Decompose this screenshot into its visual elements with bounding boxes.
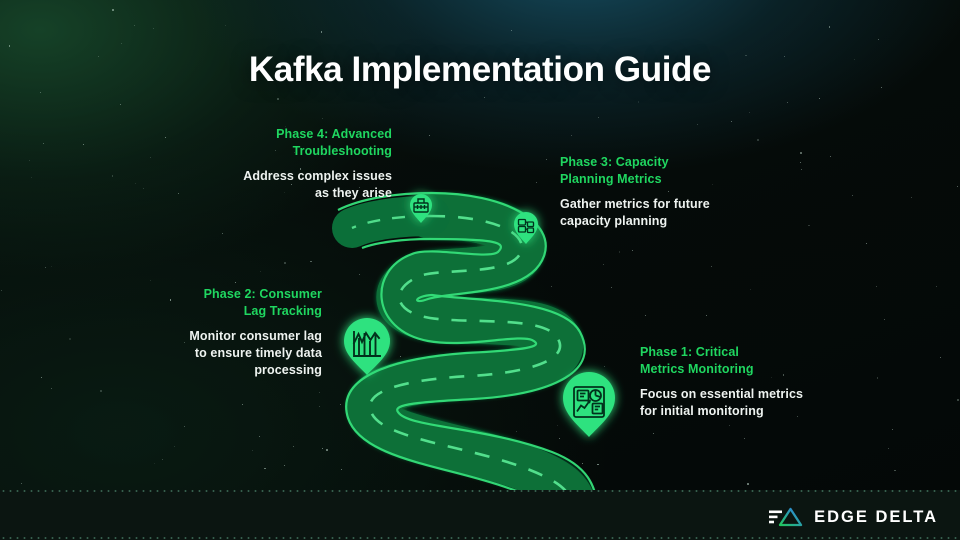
pin-shape-1	[563, 372, 615, 437]
phase-1-description: Focus on essential metrics for initial m…	[640, 386, 810, 420]
phase-3-description: Gather metrics for future capacity plann…	[560, 196, 740, 230]
phase-2-title-line2: Lag Tracking	[244, 304, 322, 318]
brand-logo: EDGE DELTA	[769, 506, 938, 528]
phase-3-title: Phase 3: Capacity Planning Metrics	[560, 154, 740, 187]
footer-divider-bottom	[0, 537, 960, 539]
phase-block-3: Phase 3: Capacity Planning Metrics Gathe…	[560, 154, 740, 230]
pin-phase-1[interactable]	[563, 372, 615, 437]
phase-4-description: Address complex issues as they arise	[230, 168, 392, 202]
phase-3-title-line1: Phase 3: Capacity	[560, 155, 669, 169]
road-svg	[0, 0, 960, 540]
footer: EDGE DELTA	[0, 490, 960, 540]
phase-4-title: Phase 4: Advanced Troubleshooting	[230, 126, 392, 159]
edge-delta-logo-icon	[769, 506, 803, 528]
roadmap-illustration	[0, 0, 960, 540]
phase-1-title-line1: Phase 1: Critical	[640, 345, 739, 359]
phase-3-title-line2: Planning Metrics	[560, 172, 662, 186]
phase-block-4: Phase 4: Advanced Troubleshooting Addres…	[230, 126, 392, 202]
phase-2-title: Phase 2: Consumer Lag Tracking	[175, 286, 322, 319]
footer-divider-top	[0, 490, 960, 492]
phase-2-title-line1: Phase 2: Consumer	[204, 287, 322, 301]
phase-4-title-line2: Troubleshooting	[293, 144, 392, 158]
slide-root: Kafka Implementation Guide	[0, 0, 960, 540]
brand-name: EDGE DELTA	[814, 508, 938, 527]
phase-2-description: Monitor consumer lag to ensure timely da…	[175, 328, 322, 379]
phase-4-title-line1: Phase 4: Advanced	[276, 127, 392, 141]
phase-block-2: Phase 2: Consumer Lag Tracking Monitor c…	[175, 286, 322, 379]
phase-1-title: Phase 1: Critical Metrics Monitoring	[640, 344, 810, 377]
phase-block-1: Phase 1: Critical Metrics Monitoring Foc…	[640, 344, 810, 420]
phase-1-title-line2: Metrics Monitoring	[640, 362, 754, 376]
